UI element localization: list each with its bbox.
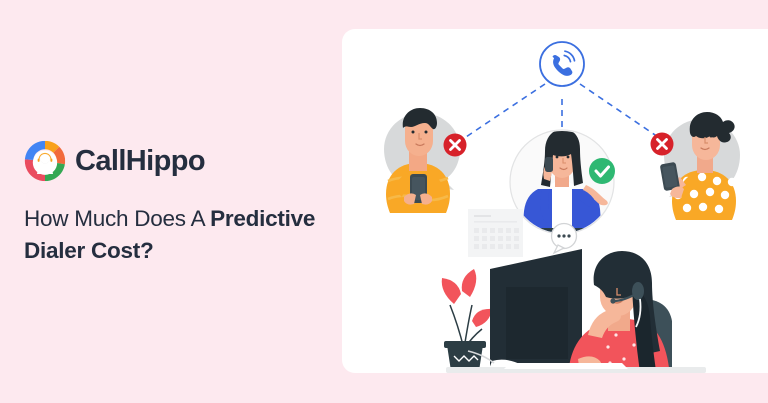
plant-leaves	[442, 269, 492, 327]
agent-speech-bubble	[552, 224, 577, 254]
eye	[567, 156, 570, 159]
dialer-hub-node	[540, 42, 584, 86]
headline-regular: How Much Does A	[24, 206, 210, 231]
contact-left-status-badge	[444, 134, 467, 157]
illustration-card	[342, 29, 768, 373]
wall-calendar-prop	[468, 209, 523, 257]
eye	[608, 285, 612, 289]
check-mark-badge	[589, 158, 615, 184]
eye	[698, 135, 701, 138]
eye	[425, 131, 428, 134]
pot-rim	[444, 341, 486, 348]
contact-left-node	[384, 108, 467, 213]
headset-mic	[610, 298, 615, 303]
banner-root: CallHippo How Much Does A Predictive Dia…	[0, 0, 768, 403]
eye	[556, 156, 559, 159]
contact-right-status-badge	[651, 133, 674, 156]
eye	[412, 131, 415, 134]
keyboard-icon	[504, 363, 628, 369]
connection-line-right	[580, 84, 664, 141]
eye	[710, 135, 713, 138]
monitor-screen	[506, 287, 568, 359]
eye	[621, 285, 625, 289]
call-agent-scene	[442, 209, 706, 373]
headset-earcup	[632, 282, 644, 300]
calendar-rule	[474, 221, 517, 223]
phone-icon	[545, 157, 553, 172]
dialer-hub-circle	[540, 42, 584, 86]
brand-lockup: CallHippo	[24, 140, 334, 182]
brand-name: CallHippo	[75, 147, 205, 176]
headline-column: CallHippo How Much Does A Predictive Dia…	[24, 140, 334, 267]
callhippo-logo-icon	[24, 140, 66, 182]
predictive-dialer-illustration	[342, 29, 768, 373]
calendar-title-line	[474, 215, 491, 217]
ellipsis-dots	[557, 234, 570, 237]
desk-plant-prop	[442, 269, 492, 371]
contact-center-status-badge	[589, 158, 615, 184]
page-title: How Much Does A Predictive Dialer Cost?	[24, 203, 324, 267]
contact-right-node	[651, 112, 741, 220]
connection-line-left	[460, 84, 545, 141]
